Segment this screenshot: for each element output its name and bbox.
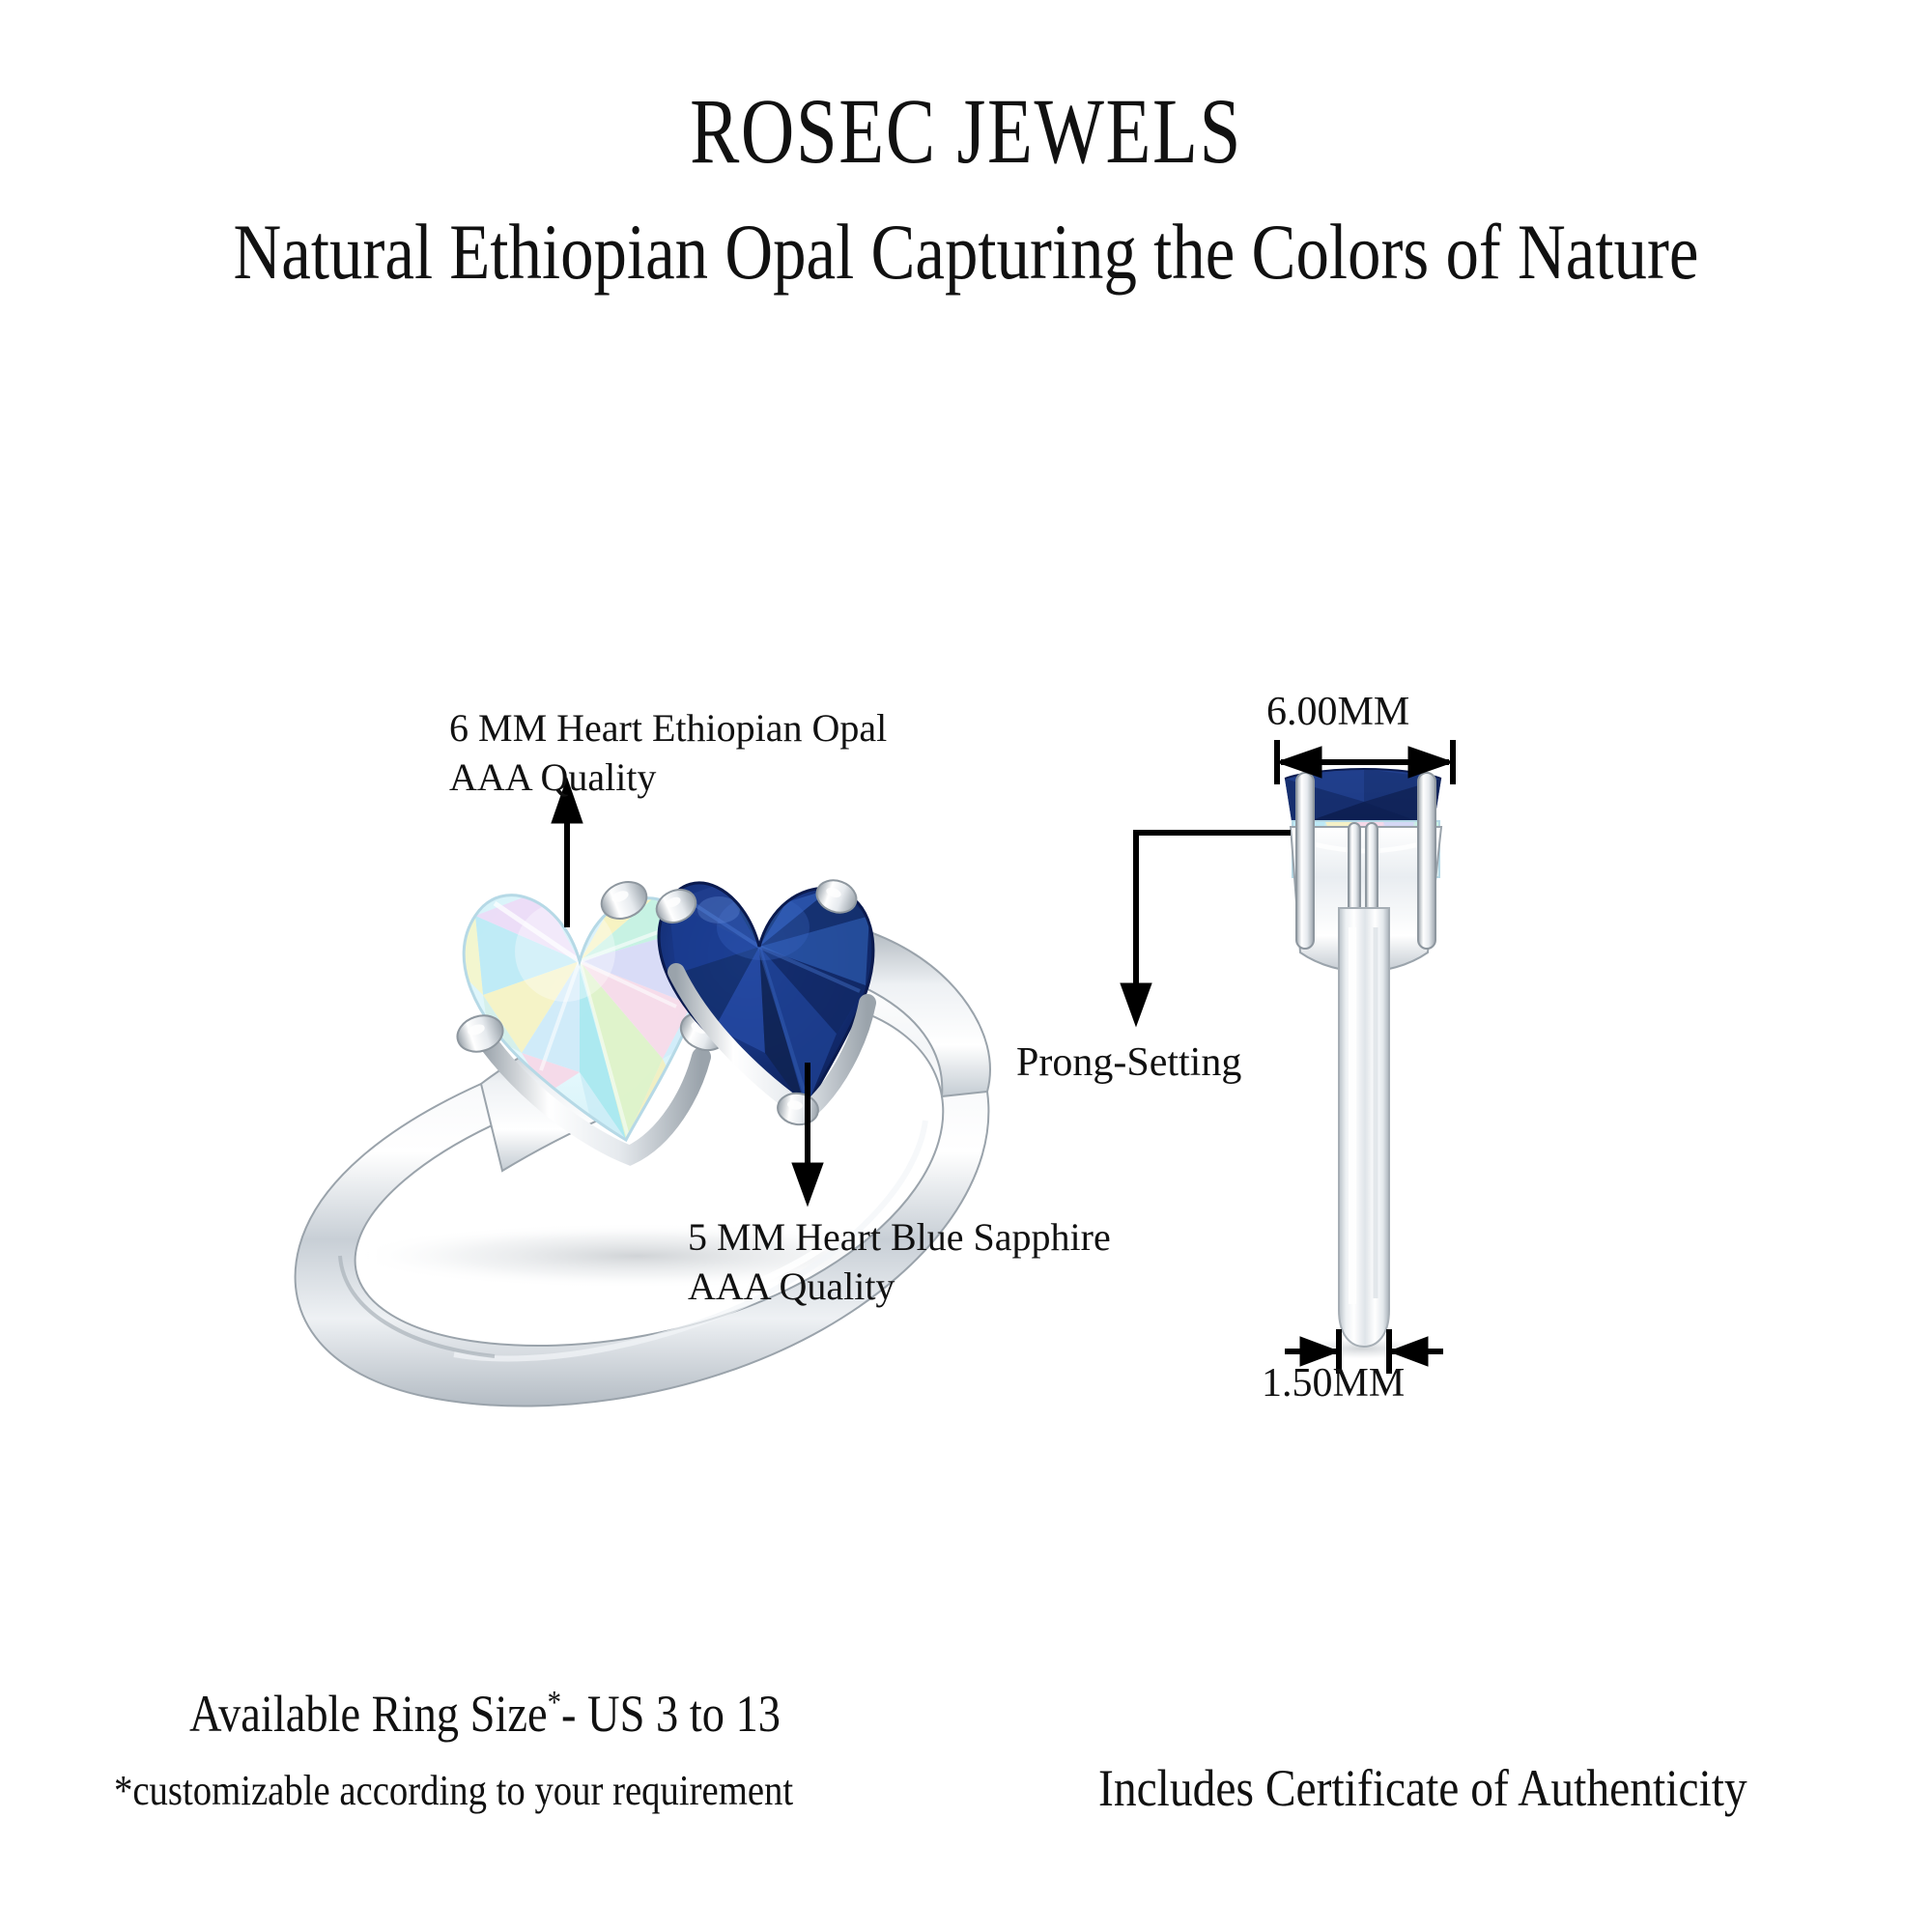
sapphire-prongs: [651, 875, 861, 1127]
annotation-prong-setting: Prong-Setting: [1016, 1037, 1241, 1090]
opal-prongs: [453, 875, 732, 1057]
annotation-opal-line2: AAA Quality: [449, 753, 887, 802]
annotation-opal-line1: 6 MM Heart Ethiopian Opal: [449, 703, 887, 753]
dimension-label-band-width: 1.50MM: [1262, 1360, 1405, 1406]
side-prongs: [1296, 773, 1435, 949]
annotation-opal: 6 MM Heart Ethiopian Opal AAA Quality: [449, 703, 887, 802]
annotation-sapphire-line1: 5 MM Heart Blue Sapphire: [688, 1212, 1111, 1262]
annotation-sapphire: 5 MM Heart Blue Sapphire AAA Quality: [688, 1212, 1111, 1311]
prong-leader-arrow: [1121, 833, 1291, 1026]
sapphire-heart-stone: [651, 875, 873, 1127]
opal-heart-stone: [453, 875, 732, 1155]
sapphire-leader-arrow: [792, 1063, 823, 1206]
ring-perspective-view: [296, 875, 990, 1406]
brand-title: ROSEC JEWELS: [193, 85, 1739, 178]
annotation-sapphire-line2: AAA Quality: [688, 1262, 1111, 1311]
dimension-label-head-width: 6.00MM: [1266, 689, 1409, 735]
footer-customizable-note: *customizable according to your requirem…: [114, 1766, 793, 1815]
infographic-canvas: ROSEC JEWELS Natural Ethiopian Opal Capt…: [0, 0, 1932, 1932]
side-sapphire-crown: [1285, 769, 1441, 838]
ring-side-profile-view: [1285, 769, 1441, 1360]
footer-ring-size-asterisk: *: [548, 1685, 561, 1720]
dimension-head-width: [1277, 740, 1453, 784]
side-shank: [1339, 908, 1389, 1347]
ring-band: [296, 968, 989, 1406]
footer-ring-size: Available Ring Size*- US 3 to 13: [189, 1684, 781, 1744]
side-opal-layer: [1293, 821, 1439, 877]
footer-ring-size-suffix: - US 3 to 13: [561, 1685, 781, 1743]
right-shoulder: [823, 925, 990, 1096]
side-prong-basket: [1291, 827, 1441, 972]
left-shoulder: [481, 1034, 614, 1171]
brand-tagline: Natural Ethiopian Opal Capturing the Col…: [155, 213, 1777, 292]
footer-certificate-note: Includes Certificate of Authenticity: [1098, 1758, 1747, 1818]
footer-ring-size-prefix: Available Ring Size: [189, 1685, 548, 1743]
